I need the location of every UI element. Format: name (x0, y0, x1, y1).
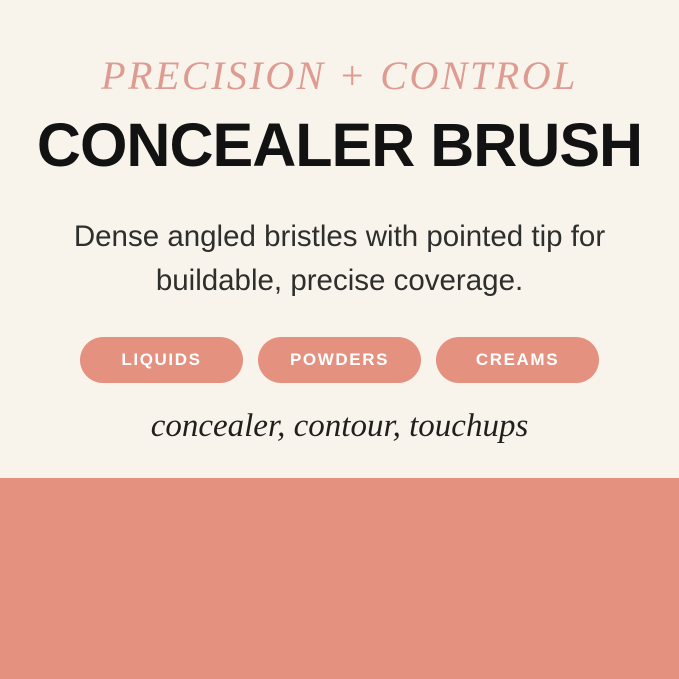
feature-pill-row: LIQUIDS POWDERS CREAMS (80, 337, 599, 383)
promo-band: Don’t miss the FREE Concealer sample ins… (0, 478, 679, 679)
page-title: CONCEALER BRUSH (0, 110, 679, 180)
hero-subcopy: Dense angled bristles with pointed tip f… (40, 215, 639, 303)
feature-pill-creams: CREAMS (436, 337, 599, 383)
product-marketing-image: PRECISION + CONTROL CONCEALER BRUSH Dens… (0, 0, 679, 679)
use-case-tagline: concealer, contour, touchups (0, 408, 679, 445)
feature-pill-powders: POWDERS (258, 337, 421, 383)
feature-pill-liquids: LIQUIDS (80, 337, 243, 383)
hero-panel: PRECISION + CONTROL CONCEALER BRUSH Dens… (0, 0, 679, 478)
eyebrow-text: PRECISION + CONTROL (0, 52, 679, 99)
